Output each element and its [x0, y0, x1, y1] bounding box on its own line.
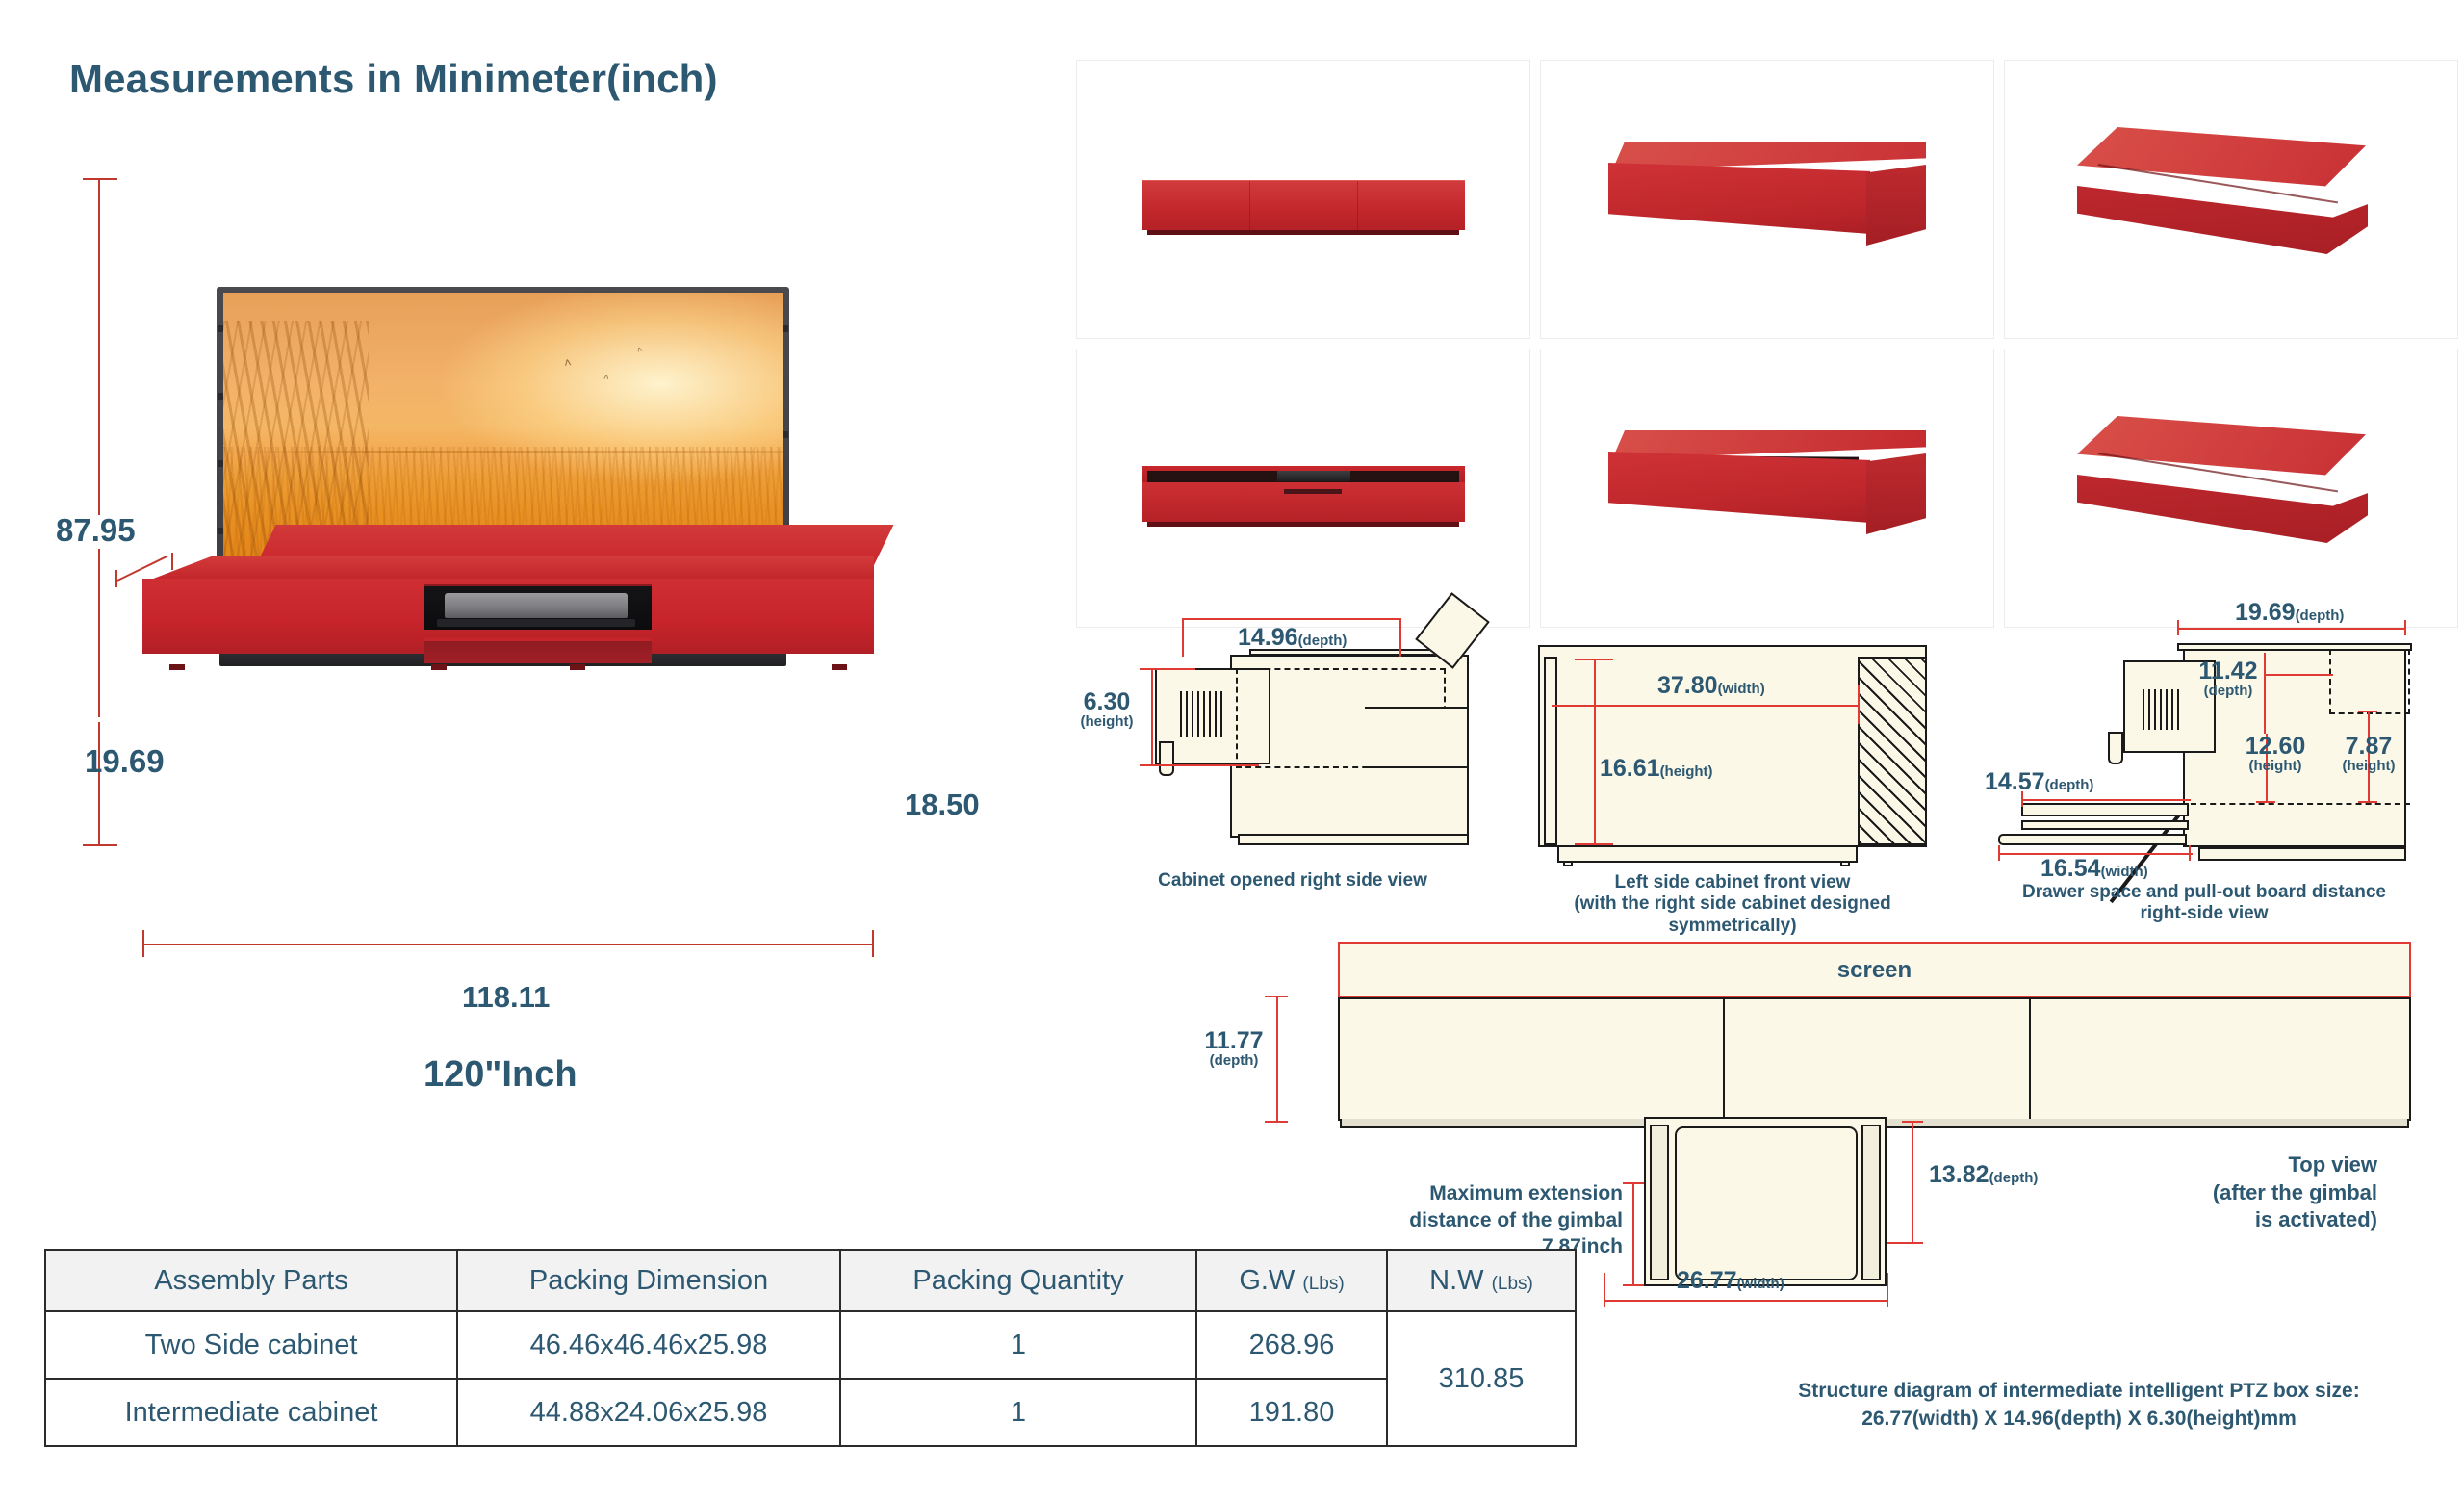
dim-label-height-1661: 16.61(height)	[1600, 755, 1713, 783]
hidden-centerline	[2191, 803, 2410, 805]
vent-grille	[1180, 691, 1226, 737]
dim-cap-bot-1661	[1575, 843, 1613, 845]
cell-gross-weight: 268.96	[1196, 1311, 1387, 1379]
dim-cap-top-630	[1140, 668, 1195, 670]
gimbal-plate	[1675, 1126, 1858, 1280]
cabinet-divider	[1723, 999, 1725, 1119]
dim-cap-bot-ext	[1623, 1284, 1644, 1286]
dim-label-depth-1177: 11.77(depth)	[1193, 1028, 1274, 1070]
dim-label-height-630: 6.30(height)	[1065, 689, 1149, 731]
cabinet-divider	[2029, 999, 2031, 1119]
frame-stud	[783, 325, 788, 332]
drawing-cabinet-opened-right-side: 14.96(depth) 6.30(height) Cabinet opened…	[1076, 585, 1509, 913]
cabinet-foot	[1563, 861, 1573, 866]
dim-line-height-1661	[1594, 659, 1596, 845]
col-net-weight: N.W (Lbs)	[1387, 1250, 1576, 1311]
pull-out-board-lower	[2021, 820, 2189, 830]
dim-cap-bot-1177	[1265, 1121, 1288, 1123]
drawing-caption-2: Left side cabinet front view (with the r…	[1530, 872, 1935, 937]
drawing-caption-1: Cabinet opened right side view	[1076, 870, 1509, 892]
drawing-top-view-gimbal: screen 11.77(depth) 13.82(depth) 26.77(w…	[1338, 942, 2435, 1288]
dim-cap-1260	[2256, 801, 2275, 803]
table-row: Intermediate cabinet 44.88x24.06x25.98 1…	[45, 1379, 1576, 1446]
screen-outline-top: screen	[1338, 942, 2411, 997]
cabinet-feet	[1147, 522, 1459, 527]
cell-parts: Intermediate cabinet	[45, 1379, 457, 1446]
dim-line-screen-height	[98, 178, 100, 515]
cabinet-outline-top	[1338, 997, 2411, 1121]
cabinet-perspective-closed	[1608, 142, 1926, 257]
photo-perspective-closed	[1540, 60, 1994, 339]
cabinet-open-shelf	[423, 638, 652, 663]
cell-dimension: 44.88x24.06x25.98	[457, 1379, 840, 1446]
photo-front-view-closed	[1076, 60, 1530, 339]
dim-label-width-1654: 16.54(width)	[2040, 855, 2148, 883]
dim-cap-left-2677	[1604, 1273, 1605, 1307]
cabinet-foot	[1840, 861, 1850, 866]
hero-product-illustration: 87.95 19.69 ˄ ˄ ˄	[0, 144, 1020, 1011]
dim-line-depth-1969	[2177, 628, 2406, 630]
cabinet-plinth	[1557, 845, 1858, 863]
screen-size-label: 120"Inch	[423, 1054, 577, 1096]
product-photo-grid	[1076, 60, 2458, 628]
dim-cap-bot-787	[2358, 801, 2377, 803]
dim-cap-left-1969	[2177, 620, 2179, 635]
dim-line-depth-1496	[1182, 618, 1401, 620]
dim-ext-1142	[2264, 653, 2266, 734]
dim-cap-depth-left	[115, 570, 117, 587]
col-assembly-parts: Assembly Parts	[45, 1250, 457, 1311]
dim-line-cabinet-height	[98, 722, 100, 845]
dim-line-height-630	[1151, 668, 1153, 766]
cabinet-front-closed	[1142, 180, 1465, 230]
dim-line-width-3780	[1552, 705, 1860, 707]
cell-parts: Two Side cabinet	[45, 1311, 457, 1379]
dim-line-width-2677	[1604, 1300, 1888, 1302]
bird-icon: ˄	[636, 345, 643, 354]
ptz-bracket	[2108, 732, 2123, 764]
projector-base	[437, 619, 635, 627]
page-title: Measurements in Minimeter(inch)	[69, 56, 718, 102]
dim-ext-left	[1182, 618, 1184, 657]
ptz-box-size-caption: Structure diagram of intermediate intell…	[1723, 1377, 2435, 1434]
col-packing-dimension: Packing Dimension	[457, 1250, 840, 1311]
dim-label-screen-height: 87.95	[56, 512, 136, 549]
dim-label-cabinet-width: 118.11	[462, 980, 550, 1015]
dim-cap-top-787	[2358, 711, 2377, 712]
cabinet-side-face	[1866, 453, 1926, 534]
cabinet-top-surface	[148, 556, 874, 581]
panel-seam	[1357, 181, 1358, 230]
top-view-caption: Top view (after the gimbal is activated)	[2069, 1151, 2377, 1234]
dim-label-height-1260: 12.60(height)	[2225, 734, 2325, 775]
dim-line-depth-1142	[2264, 674, 2333, 676]
drawing-caption-3: Drawer space and pull-out board distance…	[1963, 882, 2445, 925]
cabinet-foot	[431, 664, 447, 670]
dim-line-depth-1177	[1276, 996, 1278, 1123]
screen-label: screen	[1340, 957, 2409, 984]
dim-cap-top-1661	[1575, 659, 1613, 660]
dim-cap-bot-1382	[1886, 1242, 1923, 1244]
cell-quantity: 1	[840, 1379, 1196, 1446]
dim-line-gimbal-extension	[1632, 1182, 1634, 1286]
internal-mechanism	[1277, 471, 1350, 481]
dim-line-screen-height-lower	[98, 549, 100, 717]
package-top-face	[2077, 416, 2366, 478]
dim-label-depth-1969: 19.69(depth)	[2235, 599, 2344, 627]
gimbal-rail-left	[1650, 1125, 1669, 1280]
tv-cabinet-illustration	[142, 525, 874, 664]
pull-out-board-upper	[2021, 803, 2189, 816]
bird-icon: ˄	[603, 373, 610, 383]
hatched-section	[1858, 657, 1927, 845]
package-top-face	[2077, 127, 2366, 189]
dim-cap-right-1654	[2189, 845, 2191, 861]
col-packing-quantity: Packing Quantity	[840, 1250, 1196, 1311]
cabinet-plinth	[2198, 847, 2406, 861]
packaging-box-view-alt	[2077, 416, 2385, 560]
cell-dimension: 46.46x46.46x25.98	[457, 1311, 840, 1379]
dim-cap-top-1382	[1902, 1121, 1923, 1123]
cabinet-feet	[1147, 230, 1459, 235]
hidden-compartment-dashed	[2329, 649, 2410, 714]
photo-packaging-closed	[2004, 60, 2458, 339]
cabinet-front-face	[1608, 452, 1870, 523]
gimbal-rail-right	[1861, 1125, 1881, 1280]
panel-seam	[1249, 181, 1250, 230]
inner-shelf	[1365, 707, 1469, 768]
cabinet-vent-slot	[1284, 489, 1342, 494]
dim-label-width-2677: 26.77(width)	[1677, 1267, 1784, 1295]
dim-line-depth-1382	[1912, 1121, 1913, 1244]
cabinet-perspective-open	[1608, 430, 1926, 546]
frame-stud	[783, 431, 788, 438]
col-gross-weight: G.W (Lbs)	[1196, 1250, 1387, 1311]
projector-unit	[445, 593, 628, 618]
dim-label-cabinet-depth: 18.50	[905, 788, 980, 822]
dim-label-depth-1457: 14.57(depth)	[1985, 768, 2093, 796]
photo-perspective-open	[1540, 349, 1994, 628]
dim-label-depth-1142: 11.42(depth)	[2193, 659, 2264, 700]
dim-cap-left-1654	[1998, 845, 2000, 861]
cell-gross-weight: 191.80	[1196, 1379, 1387, 1446]
cabinet-left-wall	[1544, 657, 1557, 845]
photo-packaging-open	[2004, 349, 2458, 628]
frame-stud	[218, 325, 223, 332]
table-header-row: Assembly Parts Packing Dimension Packing…	[45, 1250, 1576, 1311]
dim-label-depth-1382: 13.82(depth)	[1929, 1161, 2038, 1189]
gimbal-assembly-top	[1644, 1117, 1886, 1286]
dim-cap-bot-630	[1140, 764, 1259, 766]
cabinet-foot	[570, 664, 585, 670]
dim-line-cabinet-width	[142, 944, 874, 945]
drawing-left-side-cabinet-front: 37.80(width) 16.61(height) Left side cab…	[1530, 626, 1935, 915]
dim-cap-width-right	[872, 930, 874, 957]
dim-cap-right-3780	[1858, 685, 1860, 724]
dim-cap-top-ext	[1623, 1182, 1644, 1184]
projector-compartment	[423, 584, 652, 630]
dim-cap-top	[83, 178, 117, 180]
bird-icon: ˄	[564, 355, 573, 369]
drawing-drawer-space-right-side: 19.69(depth) 11.42(depth) 12.60(height) …	[1963, 589, 2445, 926]
dim-label-cabinet-height: 19.69	[85, 743, 165, 780]
cabinet-foot	[832, 664, 847, 670]
dim-line-depth-1457	[2021, 799, 2191, 801]
cabinet-base	[1238, 834, 1469, 845]
table-row: Two Side cabinet 46.46x46.46x25.98 1 268…	[45, 1311, 1576, 1379]
dim-label-depth-1496: 14.96(depth)	[1238, 624, 1347, 652]
dim-cap-depth-right	[171, 553, 173, 570]
pull-out-board-extended	[1998, 834, 2187, 845]
dim-ext-right	[1399, 618, 1401, 657]
dim-label-height-787: 7.87(height)	[2331, 734, 2406, 775]
frame-stud	[218, 460, 223, 467]
packaging-box-view	[2077, 127, 2385, 272]
dim-cap-bottom	[83, 844, 117, 846]
dim-label-width-3780: 37.80(width)	[1657, 672, 1765, 700]
cabinet-foot	[169, 664, 185, 670]
cabinet-front-open	[1142, 466, 1465, 522]
cell-quantity: 1	[840, 1311, 1196, 1379]
cabinet-front-face	[1608, 163, 1870, 234]
ptz-bracket	[1159, 741, 1174, 776]
packing-spec-table: Assembly Parts Packing Dimension Packing…	[44, 1249, 1577, 1447]
dim-cap-top-1177	[1265, 996, 1288, 997]
dim-cap-right-1969	[2404, 620, 2406, 635]
dim-cap-width-left	[142, 930, 144, 957]
cabinet-side-face	[1866, 165, 1926, 246]
dim-cap-right-2677	[1886, 1273, 1888, 1307]
vent-grille	[2143, 689, 2183, 730]
frame-stud	[218, 393, 223, 400]
cell-net-weight-total: 310.85	[1387, 1311, 1576, 1446]
